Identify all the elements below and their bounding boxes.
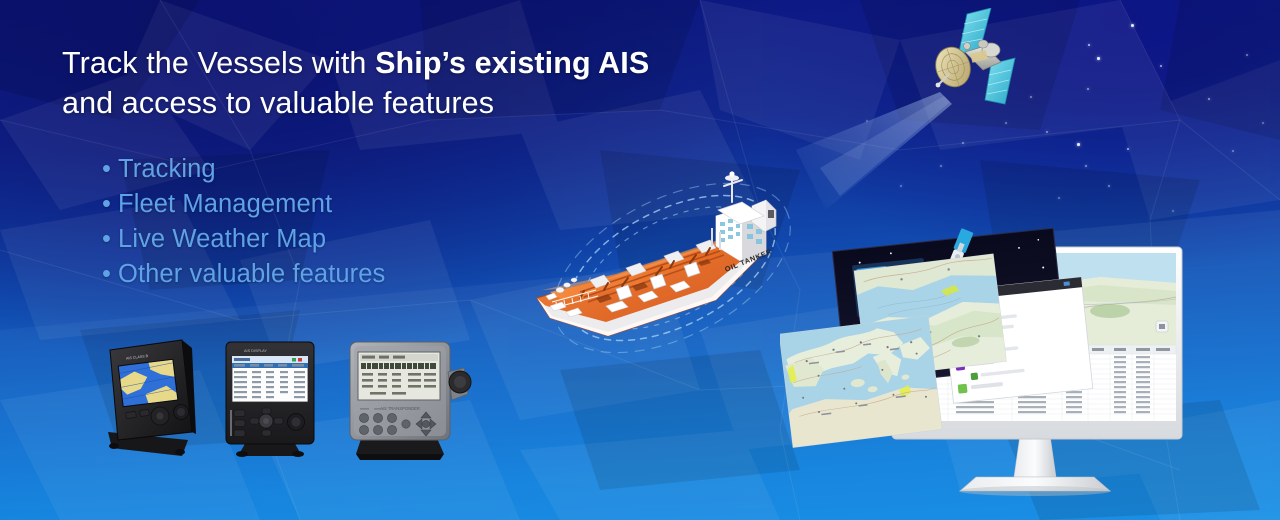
screens-cluster	[780, 225, 1280, 500]
bullet-marker-icon: •	[102, 155, 111, 183]
list-item-label: Fleet Management	[118, 190, 332, 218]
device-ais-class-b: AIS CLASS B	[108, 340, 196, 456]
list-item-label: Other valuable features	[118, 260, 385, 288]
device-brand-label: AIS TRANSPONDER	[380, 406, 420, 411]
bullet-marker-icon: •	[102, 260, 111, 288]
device-brand-label: AIS DISPLAY	[244, 349, 267, 353]
satellite-illustration	[905, 8, 1045, 118]
bullet-marker-icon: •	[102, 190, 111, 218]
headline-line1-strong: Ship’s existing AIS	[375, 46, 649, 80]
ship-illustration: OIL TANKER	[520, 150, 820, 370]
device-ais-transponder-gray: AIS TRANSPONDER	[350, 342, 471, 460]
panel-row-icon	[971, 373, 979, 381]
page-title: Track the Vessels with Ship’s existing A…	[62, 44, 682, 124]
list-item-label: Tracking	[118, 155, 216, 183]
panel-row-icon	[958, 384, 968, 394]
headline-line2: and access to valuable features	[62, 86, 494, 120]
map-europe	[780, 316, 942, 447]
headline-line1-prefix: Track the Vessels with	[62, 46, 375, 80]
bullet-marker-icon: •	[102, 225, 111, 253]
ais-devices-group: AIS CLASS B AIS DISPLAY	[92, 330, 512, 475]
list-item-label: Live Weather Map	[118, 225, 326, 253]
hero-banner: Track the Vessels with Ship’s existing A…	[0, 0, 1280, 520]
device-ais-display: AIS DISPLAY	[226, 342, 314, 457]
